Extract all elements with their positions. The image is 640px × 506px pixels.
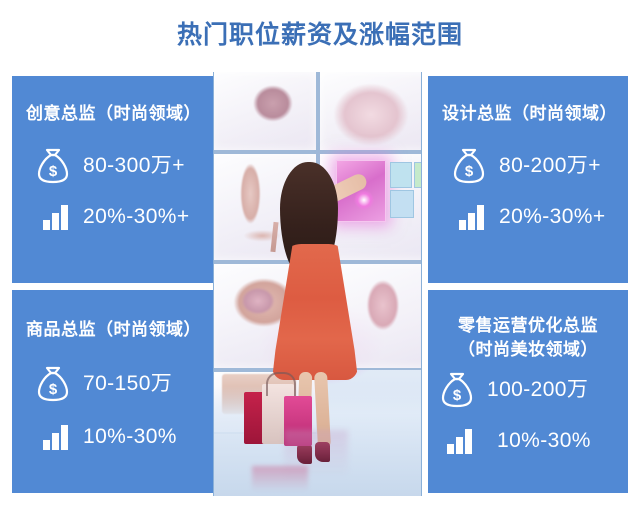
fashion-retail-photo [213, 72, 422, 496]
product-flat-shoe [230, 278, 286, 324]
money-bag-icon: $ [452, 148, 486, 184]
product-boot [230, 74, 304, 144]
bag-reflection [252, 466, 308, 496]
card-title: 商品总监（时尚领域） [12, 290, 213, 342]
salary-row: $ 70-150万 [36, 366, 213, 402]
card-design-director[interactable]: 设计总监（时尚领域） $ 80-200万+ [428, 76, 628, 283]
salary-row: $ 100-200万 [440, 372, 628, 408]
bar-chart-icon [458, 204, 486, 230]
growth-value: 20%-30%+ [499, 205, 606, 229]
bar-chart-icon [42, 204, 70, 230]
growth-row: 20%-30%+ [452, 204, 628, 230]
svg-text:$: $ [49, 381, 58, 398]
salary-value: 80-200万+ [499, 154, 601, 178]
salary-value: 70-150万 [83, 372, 172, 396]
page-title: 热门职位薪资及涨幅范围 [0, 18, 640, 52]
card-creative-director[interactable]: 创意总监（时尚领域） $ 80-300万+ [12, 76, 213, 283]
svg-text:$: $ [49, 163, 58, 180]
bar-chart-icon [446, 428, 474, 454]
svg-text:$: $ [465, 163, 474, 180]
growth-row: 10%-30% [440, 428, 628, 454]
card-title: 设计总监（时尚领域） [428, 76, 628, 126]
salary-value: 100-200万 [487, 378, 588, 402]
growth-row: 10%-30% [36, 424, 213, 450]
bar-chart-icon [42, 424, 70, 450]
growth-value: 10%-30% [83, 425, 177, 449]
shopping-bag-handle [266, 372, 296, 396]
money-bag-icon: $ [36, 366, 70, 402]
card-title: 创意总监（时尚领域） [12, 76, 213, 126]
salary-row: $ 80-200万+ [452, 148, 628, 184]
growth-row: 20%-30%+ [36, 204, 213, 230]
svg-text:$: $ [453, 387, 462, 404]
card-metrics: $ 80-300万+ 20%-30%+ [12, 148, 213, 230]
growth-value: 10%-30% [487, 429, 591, 453]
mini-screen [390, 162, 412, 188]
photo-background [214, 72, 421, 496]
card-title-line1: 零售运营优化总监 [458, 316, 598, 335]
card-title-line2: （时尚美妆领域） [438, 338, 618, 362]
salary-row: $ 80-300万+ [36, 148, 213, 184]
money-bag-icon: $ [36, 148, 70, 184]
card-metrics: $ 70-150万 10%-30% [12, 366, 213, 450]
card-title: 零售运营优化总监 （时尚美妆领域） [428, 290, 628, 362]
money-bag-icon: $ [440, 372, 474, 408]
cards-layout: 创意总监（时尚领域） $ 80-300万+ [0, 72, 640, 496]
salary-value: 80-300万+ [83, 154, 185, 178]
product-model-face [326, 74, 422, 148]
card-merchandise-director[interactable]: 商品总监（时尚领域） $ 70-150万 [12, 290, 213, 493]
card-metrics: $ 100-200万 10%-30% [428, 372, 628, 454]
mini-screen [390, 190, 414, 218]
card-retail-operations-director[interactable]: 零售运营优化总监 （时尚美妆领域） $ 100-200万 [428, 290, 628, 493]
growth-value: 20%-30%+ [83, 205, 190, 229]
card-metrics: $ 80-200万+ 20%-30%+ [428, 148, 628, 230]
touch-glow [354, 190, 374, 210]
mini-screen [414, 162, 422, 188]
